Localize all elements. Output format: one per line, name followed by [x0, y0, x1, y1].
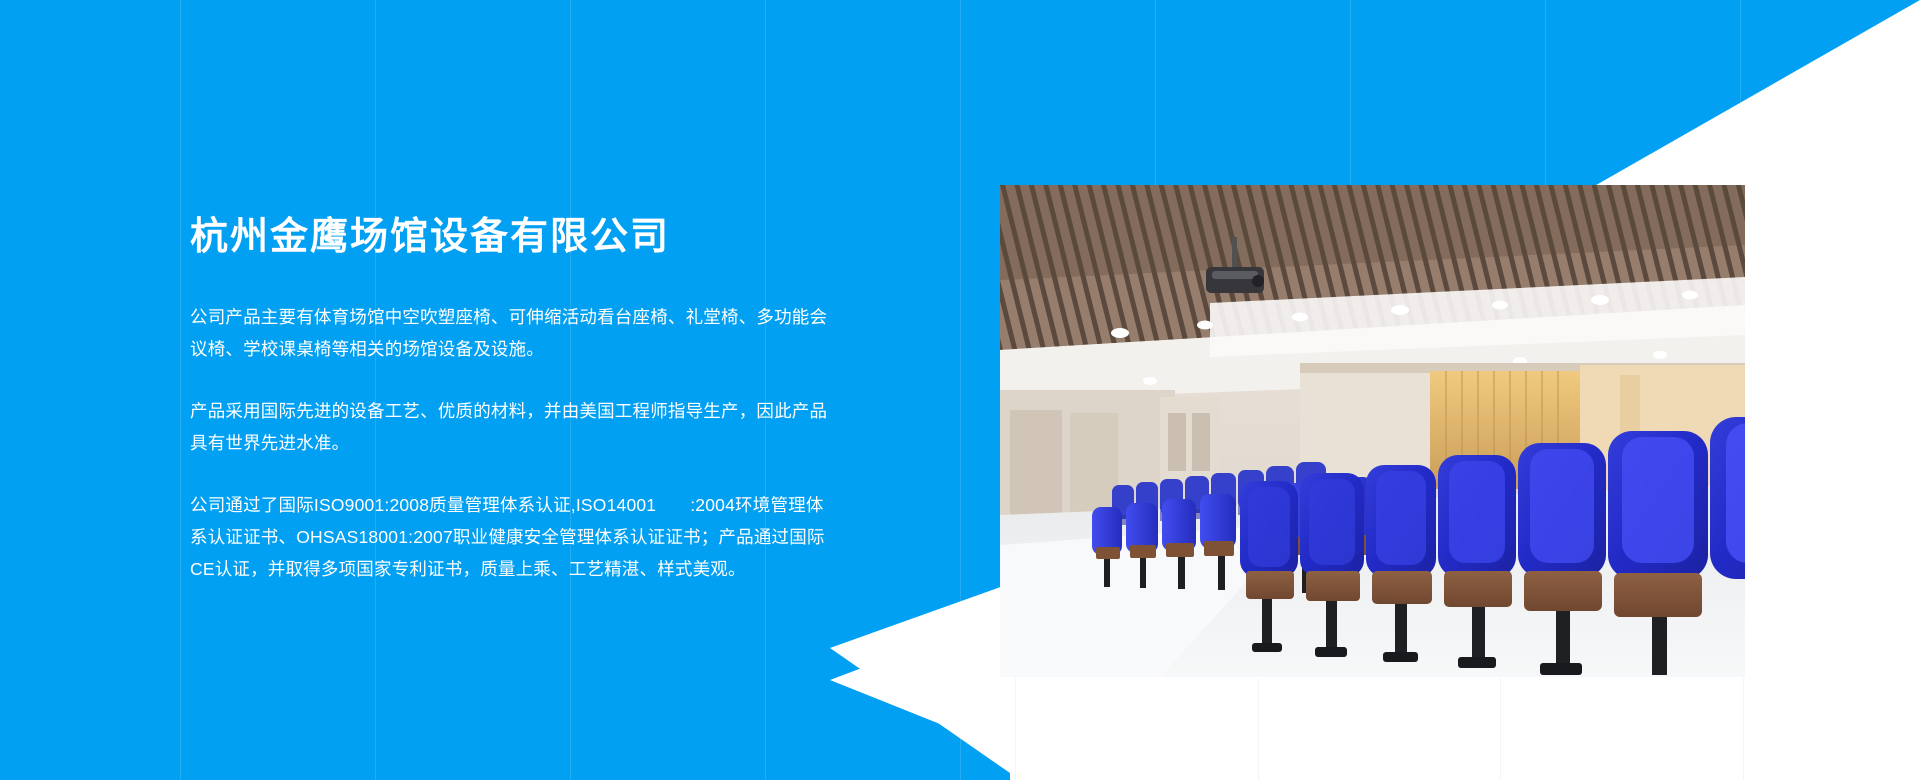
- company-title: 杭州金鹰场馆设备有限公司: [190, 215, 830, 261]
- hero-banner: 杭州金鹰场馆设备有限公司 公司产品主要有体育场馆中空吹塑座椅、可伸缩活动看台座椅…: [0, 0, 1920, 780]
- hero-text-block: 杭州金鹰场馆设备有限公司 公司产品主要有体育场馆中空吹塑座椅、可伸缩活动看台座椅…: [190, 215, 830, 585]
- intro-paragraph-products: 公司产品主要有体育场馆中空吹塑座椅、可伸缩活动看台座椅、礼堂椅、多功能会议椅、学…: [190, 301, 830, 365]
- intro-paragraph-quality: 产品采用国际先进的设备工艺、优质的材料，并由美国工程师指导生产，因此产品具有世界…: [190, 395, 830, 459]
- intro-paragraph-certifications: 公司通过了国际ISO9001:2008质量管理体系认证,ISO14001:200…: [190, 489, 830, 585]
- certification-text-part-one: 公司通过了国际ISO9001:2008质量管理体系认证,ISO14001: [190, 495, 656, 515]
- auditorium-photo-illustration: [1000, 185, 1745, 677]
- auditorium-photo-frame: [1000, 185, 1745, 677]
- auditorium-photo: [1000, 185, 1745, 677]
